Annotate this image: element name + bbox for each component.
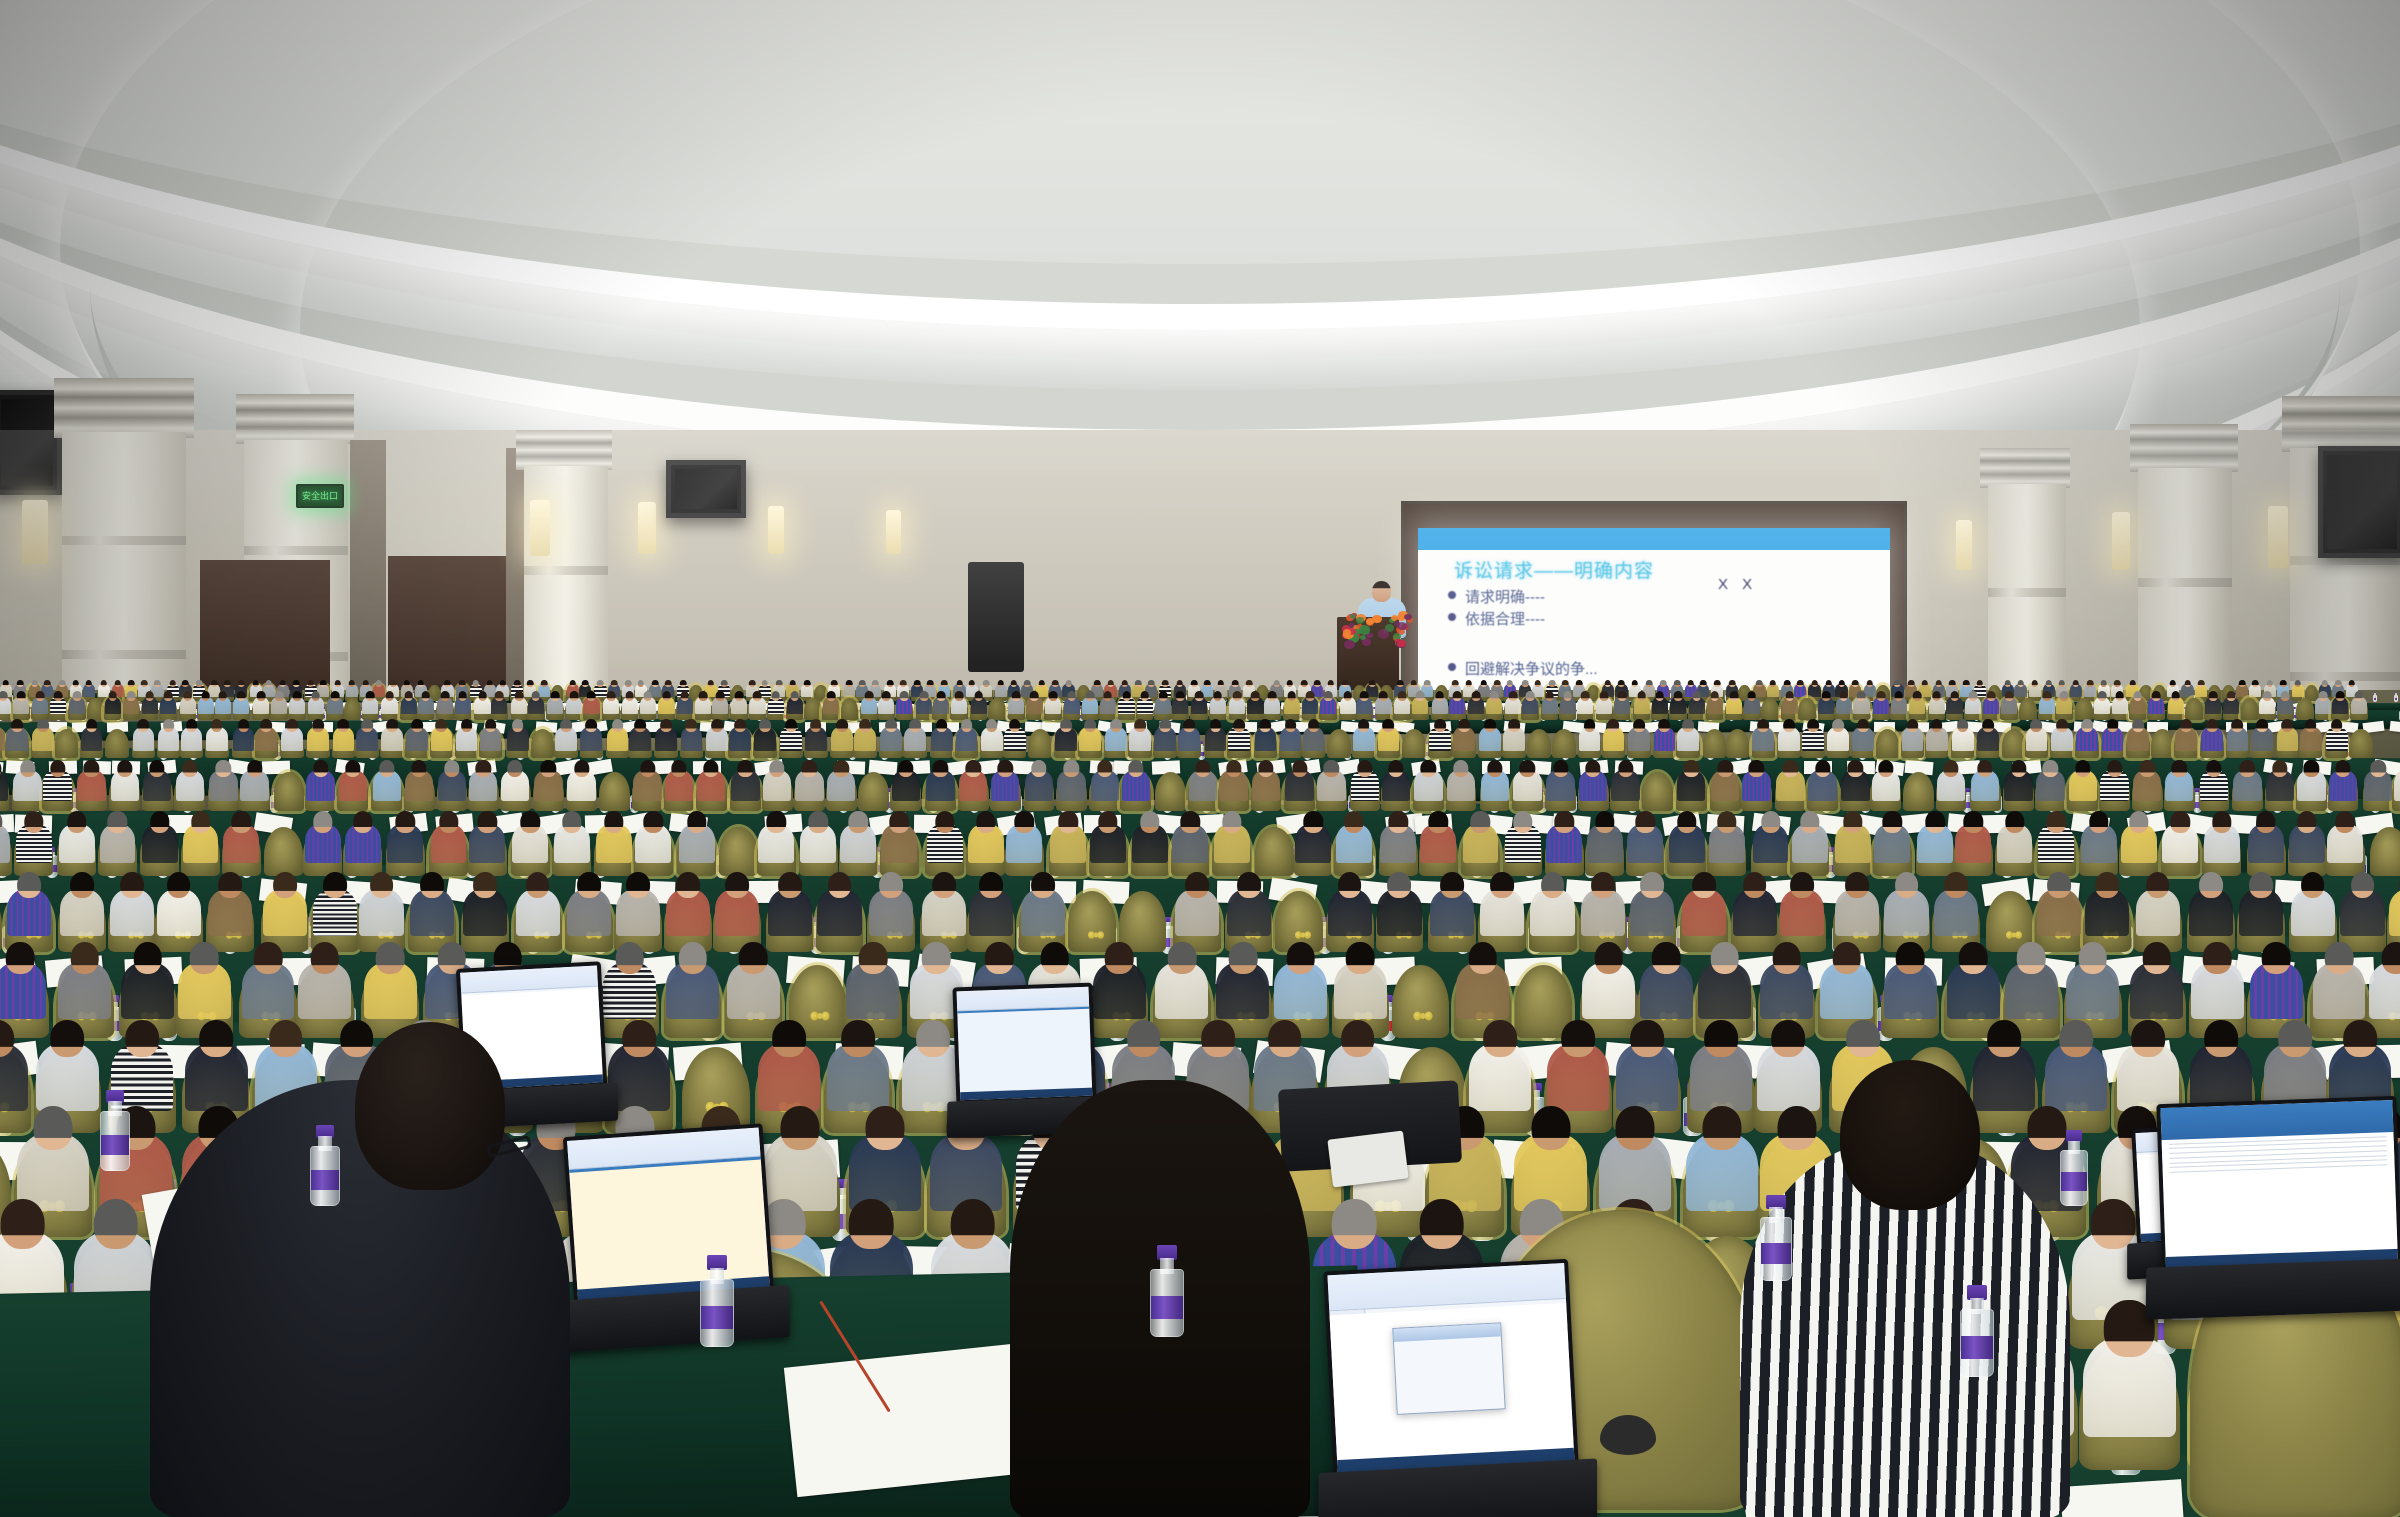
audience-member <box>263 872 307 936</box>
audience-head <box>640 760 655 777</box>
audience-head <box>1103 691 1112 701</box>
audience-head <box>941 680 948 687</box>
audience-head <box>1982 719 1994 732</box>
audience-head <box>2252 680 2259 687</box>
audience-head <box>1922 680 1929 687</box>
audience-head <box>1843 811 1862 833</box>
audience-member <box>1603 719 1625 751</box>
audience-head <box>108 691 117 701</box>
audience-member <box>1378 719 1400 751</box>
audience-head <box>1882 811 1901 833</box>
audience-head <box>1591 872 1615 899</box>
audience-member <box>253 691 269 714</box>
audience-head <box>643 691 652 701</box>
audience-head <box>665 680 672 687</box>
audience-head <box>1857 691 1866 701</box>
audience-member <box>431 811 467 863</box>
audience-head <box>574 760 589 777</box>
audience-head <box>2232 719 2244 732</box>
audience-head <box>1692 872 1716 899</box>
audience-member <box>927 811 963 863</box>
audience-member <box>1853 691 1869 714</box>
audience-head <box>1195 691 1204 701</box>
audience-member <box>843 680 855 697</box>
audience-member <box>158 719 180 751</box>
audience-head <box>334 680 341 687</box>
audience-head <box>1346 942 1375 974</box>
audience-head <box>1097 760 1112 777</box>
audience-head <box>849 811 868 833</box>
audience-head <box>1098 811 1117 833</box>
audience-head <box>1730 691 1739 701</box>
audience-head <box>0 691 7 701</box>
audience-head <box>1039 680 1046 687</box>
audience-member <box>0 811 10 863</box>
audience-head <box>366 691 375 701</box>
audience-head <box>1783 719 1795 732</box>
audience-member <box>1733 872 1777 936</box>
audience-head <box>983 680 990 687</box>
audience-head <box>313 760 328 777</box>
audience-member <box>1711 760 1739 801</box>
audience-member <box>1479 719 1501 751</box>
audience-head <box>1301 680 1308 687</box>
audience-member <box>469 760 497 801</box>
audience-member <box>2130 691 2146 714</box>
audience-member <box>180 691 196 714</box>
audience-member <box>1760 942 1813 1019</box>
audience-member <box>1513 760 1541 801</box>
audience-head <box>2335 680 2342 687</box>
audience-member <box>2039 691 2055 714</box>
audience-head <box>2056 719 2068 732</box>
audience-member <box>1295 811 1331 863</box>
audience-head <box>985 942 1014 974</box>
audience-member <box>1214 811 1250 863</box>
audience-head <box>403 680 410 687</box>
audience-head <box>2336 691 2345 701</box>
audience-head <box>900 691 909 701</box>
audience-head <box>2047 872 2071 899</box>
audience-head <box>254 942 283 974</box>
audience-head <box>898 760 913 777</box>
audience-member <box>780 719 802 751</box>
audience-member <box>1547 1020 1609 1111</box>
audience-head <box>680 680 687 687</box>
audience-head <box>841 1020 875 1058</box>
bottle-label <box>2395 698 2397 700</box>
audience-member <box>60 872 104 936</box>
audience-member <box>1628 719 1650 751</box>
audience-member <box>1154 719 1176 751</box>
audience-member <box>846 942 899 1019</box>
audience-head <box>721 680 728 687</box>
audience-member <box>2340 872 2384 936</box>
audience-member <box>0 719 5 751</box>
audience-head <box>1009 719 1021 732</box>
audience-head <box>182 680 189 687</box>
audience-member <box>2223 691 2239 714</box>
audience-head <box>976 811 995 833</box>
audience-head <box>616 942 645 974</box>
audience-head <box>2043 760 2058 777</box>
audience-member <box>1937 760 1965 801</box>
audience-head <box>1987 691 1996 701</box>
audience-head <box>1134 719 1146 732</box>
audience-head <box>2348 680 2355 687</box>
audience-member <box>511 691 527 714</box>
audience-head <box>1388 760 1403 777</box>
audience-member <box>971 691 987 714</box>
audience-head <box>201 691 210 701</box>
audience-head <box>1268 691 1277 701</box>
audience-head <box>24 811 43 833</box>
audience-head <box>1878 760 1893 777</box>
audience-head <box>1110 719 1122 732</box>
audience-head <box>769 760 784 777</box>
audience-member <box>1280 719 1302 751</box>
audience-head <box>1618 691 1627 701</box>
audience-head <box>1416 691 1425 701</box>
audience-member <box>534 760 562 801</box>
audience-member <box>2133 760 2161 801</box>
audience-member <box>142 811 178 863</box>
audience-head <box>887 680 894 687</box>
audience-head <box>2140 760 2155 777</box>
audience-head <box>560 719 572 732</box>
audience-head <box>331 691 340 701</box>
audience-head <box>2305 719 2317 732</box>
audience-member <box>1581 872 1625 936</box>
audience-head <box>1094 680 1101 687</box>
audience-head <box>411 760 426 777</box>
audience-head <box>607 691 616 701</box>
audience-head <box>1674 680 1681 687</box>
audience-head <box>735 691 744 701</box>
audience-head <box>625 691 634 701</box>
audience-member <box>1505 691 1521 714</box>
audience-head <box>1585 760 1600 777</box>
audience-head <box>955 691 964 701</box>
audience-head <box>311 691 320 701</box>
audience-member <box>110 872 154 936</box>
audience-member <box>2102 719 2124 751</box>
audience-head <box>1369 680 1376 687</box>
audience-member <box>0 691 11 714</box>
audience-member <box>1129 719 1151 751</box>
audience-head <box>485 719 497 732</box>
audience-head <box>323 872 347 899</box>
audience-head <box>1907 719 1919 732</box>
audience-member <box>1420 811 1456 863</box>
audience-member <box>1955 811 1991 863</box>
audience-head <box>652 680 659 687</box>
audience-head <box>1908 680 1915 687</box>
banquet-chair <box>1761 698 1778 720</box>
audience-head <box>1838 680 1845 687</box>
audience-member <box>2045 1020 2107 1111</box>
audience-member <box>242 942 295 1019</box>
audience-head <box>1660 680 1667 687</box>
audience-head <box>1636 811 1655 833</box>
audience-member <box>111 760 139 801</box>
audience-member <box>58 942 111 1019</box>
audience-head <box>570 691 579 701</box>
audience-member <box>364 942 417 1019</box>
audience-head <box>1285 719 1297 732</box>
audience-member <box>2248 811 2284 863</box>
audience-member <box>7 872 51 936</box>
audience-head <box>541 760 556 777</box>
audience-head <box>311 942 340 974</box>
audience-member <box>1917 811 1953 863</box>
banquet-chair <box>804 698 821 720</box>
audience-member <box>176 760 204 801</box>
audience-member <box>1802 719 1824 751</box>
audience-head <box>275 691 284 701</box>
audience-member <box>1336 811 1372 863</box>
audience-member <box>1175 872 1219 936</box>
audience-head <box>338 719 350 732</box>
audience-member <box>1542 691 1558 714</box>
audience-member <box>926 760 954 801</box>
audience-member <box>787 691 803 714</box>
audience-head <box>1508 719 1520 732</box>
audience-head <box>218 872 242 899</box>
audience-member <box>2148 691 2164 714</box>
audience-head <box>872 680 879 687</box>
audience-member <box>418 691 434 714</box>
audience-head <box>1201 1020 1235 1058</box>
audience-member <box>2289 811 2325 863</box>
audience-head <box>1894 691 1903 701</box>
audience-head <box>626 872 650 899</box>
audience-member <box>1356 691 1372 714</box>
audience-head <box>114 680 121 687</box>
audience-head <box>1797 680 1804 687</box>
audience-member <box>861 691 877 714</box>
audience-member <box>32 691 48 714</box>
audience-member <box>1340 691 1356 714</box>
audience-member <box>16 811 52 863</box>
audience-member <box>1983 691 1999 714</box>
audience-head <box>703 760 718 777</box>
audience-member <box>1079 719 1101 751</box>
audience-head <box>1772 942 1801 974</box>
audience-head <box>1122 691 1131 701</box>
audience-head <box>1957 719 1969 732</box>
audience-member <box>2329 760 2357 801</box>
audience-head <box>1232 680 1239 687</box>
audience-member <box>2300 719 2322 751</box>
audience-member <box>956 719 978 751</box>
audience-head <box>514 680 521 687</box>
audience-member <box>1064 691 1080 714</box>
audience-member <box>2038 811 2074 863</box>
audience-member <box>0 1020 28 1111</box>
audience-member <box>1105 719 1127 751</box>
audience-head <box>2301 872 2325 899</box>
chair-bow <box>2006 931 2022 938</box>
banquet-chair <box>719 827 758 876</box>
audience-head <box>1926 811 1945 833</box>
audience-member <box>2127 719 2149 751</box>
audience-head <box>2322 680 2329 687</box>
bottle-body <box>2394 695 2398 703</box>
audience-member <box>800 811 836 863</box>
banquet-chair <box>274 772 305 811</box>
audience-head <box>597 680 604 687</box>
audience-head <box>2294 680 2301 687</box>
audience-head <box>1484 719 1496 732</box>
audience-member <box>1468 691 1484 714</box>
audience-head <box>961 719 973 732</box>
audience-head <box>2272 760 2287 777</box>
audience-member <box>1447 760 1475 801</box>
audience-head <box>1987 1020 2021 1058</box>
audience-member <box>1582 942 1635 1019</box>
audience-member <box>1302 691 1318 714</box>
audience-head <box>1185 872 1209 899</box>
audience-member <box>2277 691 2293 714</box>
audience-head <box>1287 680 1294 687</box>
audience-member <box>1577 691 1593 714</box>
audience-head <box>17 691 26 701</box>
audience-head <box>1304 811 1323 833</box>
audience-member <box>480 719 502 751</box>
audience-member <box>1947 942 2000 1019</box>
audience-head <box>1268 1020 1302 1058</box>
audience-member <box>1172 811 1208 863</box>
audience-member <box>305 811 341 863</box>
audience-member <box>1090 811 1126 863</box>
audience-head <box>2263 691 2272 701</box>
audience-member <box>1808 760 1836 801</box>
audience-head <box>885 719 897 732</box>
audience-member <box>2264 1020 2326 1111</box>
audience-head <box>2331 719 2343 732</box>
audience-head <box>541 680 548 687</box>
audience-head <box>1453 691 1462 701</box>
audience-head <box>1024 680 1031 687</box>
audience-member <box>666 942 719 1019</box>
audience-head <box>1976 680 1983 687</box>
audience-head <box>968 680 975 687</box>
audience-member <box>1767 680 1779 697</box>
audience-member <box>1264 691 1280 714</box>
audience-member <box>2205 691 2221 714</box>
audience-head <box>167 872 191 899</box>
audience-member <box>313 872 357 936</box>
audience-member <box>1926 719 1948 751</box>
audience-member <box>2085 872 2129 936</box>
audience-head <box>759 719 771 732</box>
audience-head <box>1494 680 1501 687</box>
audience-head <box>1487 760 1502 777</box>
audience-member <box>1469 1020 1531 1111</box>
audience-member <box>1707 691 1723 714</box>
audience-member <box>1670 691 1686 714</box>
audience-member <box>233 719 255 751</box>
audience-head <box>376 942 405 974</box>
audience-head <box>386 719 398 732</box>
audience-head <box>2180 719 2192 732</box>
audience-member <box>32 719 54 751</box>
audience-member <box>410 872 454 936</box>
audience-head <box>1895 872 1919 899</box>
audience-member <box>805 719 827 751</box>
audience-head <box>2132 719 2144 732</box>
audience-member <box>1652 691 1668 714</box>
audience-head <box>475 760 490 777</box>
audience-head <box>2304 760 2319 777</box>
audience-head <box>138 719 150 732</box>
audience-head <box>73 680 80 687</box>
audience-member <box>77 760 105 801</box>
audience-head <box>349 680 356 687</box>
audience-head <box>1549 680 1556 687</box>
audience-head <box>986 719 998 732</box>
audience-member <box>768 872 812 936</box>
audience-member <box>1093 942 1146 1019</box>
audience-member <box>758 1020 820 1111</box>
audience-head <box>1084 719 1096 732</box>
audience-member <box>1178 719 1200 751</box>
audience-member <box>715 872 759 936</box>
audience-head <box>1630 1020 1664 1058</box>
audience-member <box>463 872 507 936</box>
audience-head <box>293 680 300 687</box>
audience-head <box>1176 691 1185 701</box>
audience-member <box>2189 872 2233 936</box>
banquet-chair <box>1028 729 1052 759</box>
audience-member <box>1757 1020 1819 1111</box>
audience-member <box>1669 811 1705 863</box>
banquet-chair <box>988 698 1005 720</box>
audience-head <box>570 680 577 687</box>
audience-head <box>879 872 903 899</box>
audience-head <box>638 680 645 687</box>
audience-member <box>1997 811 2033 863</box>
audience-head <box>1435 691 1444 701</box>
audience-member <box>121 942 174 1019</box>
audience-member <box>896 691 912 714</box>
audience-head <box>1783 760 1798 777</box>
audience-member <box>695 691 711 714</box>
audience-member <box>1219 760 1247 801</box>
audience-member <box>831 719 853 751</box>
audience-head <box>404 691 413 701</box>
audience-member <box>1334 942 1387 1019</box>
audience-head <box>1769 680 1776 687</box>
audience-member <box>346 680 358 697</box>
audience-member <box>356 719 378 751</box>
audience-member <box>2081 811 2117 863</box>
audience-head <box>2212 811 2231 833</box>
audience-head <box>781 1106 820 1150</box>
audience-member <box>2066 942 2119 1019</box>
audience-member <box>1091 760 1119 801</box>
audience-head <box>17 680 24 687</box>
banquet-chair <box>2296 698 2313 720</box>
audience-member <box>178 942 231 1019</box>
audience-head <box>1060 719 1072 732</box>
audience-member <box>1255 719 1277 751</box>
audience-head <box>1286 942 1315 974</box>
audience-member <box>271 691 287 714</box>
audience-head <box>890 811 909 833</box>
audience-head <box>1932 691 1941 701</box>
